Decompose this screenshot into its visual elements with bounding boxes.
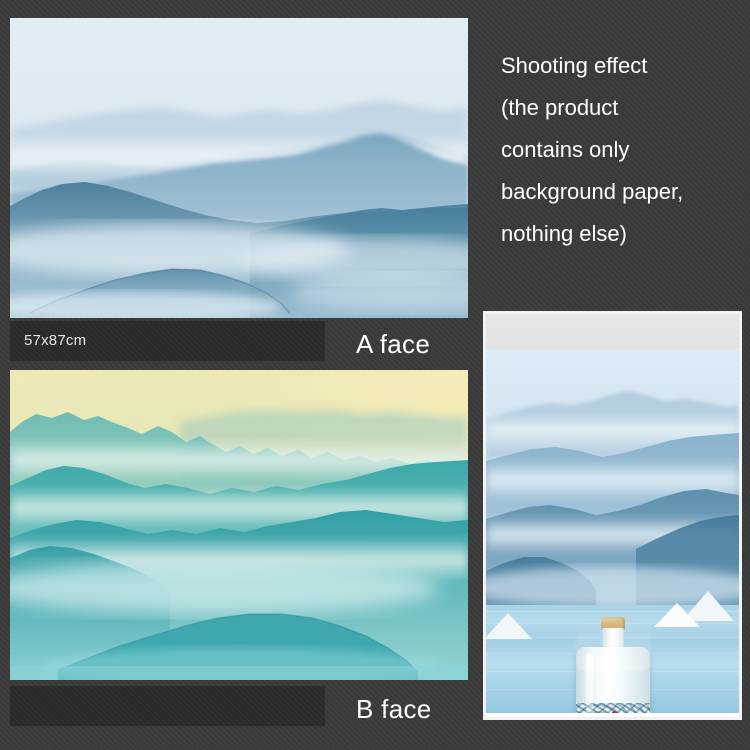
b-face-background-paper-image[interactable] [10,370,468,680]
product-listing-image: 57x87cm A face [0,0,750,750]
a-face-size-band: 57x87cm [10,321,325,361]
shooting-effect-product-photo[interactable] [483,311,742,720]
bottle-reflection [576,617,650,671]
shooting-effect-caption: Shooting effect (the product contains on… [501,45,746,255]
caption-line: contains only [501,129,746,171]
a-face-background-paper-image[interactable] [10,18,468,318]
b-face-label: B face [356,694,432,725]
caption-line: nothing else) [501,213,746,255]
photo-top-band [486,314,739,349]
caption-line: (the product [501,87,746,129]
b-face-mountain-illustration [10,370,468,680]
a-face-label: A face [356,329,430,360]
b-face-size-band [10,686,325,726]
caption-line: Shooting effect [501,45,746,87]
a-face-mountain-illustration [10,18,468,318]
prop-mountain-right-front [654,603,700,627]
photo-scene [486,349,739,713]
prop-mountain-left [486,613,532,639]
size-label: 57x87cm [24,332,86,349]
caption-line: background paper, [501,171,746,213]
